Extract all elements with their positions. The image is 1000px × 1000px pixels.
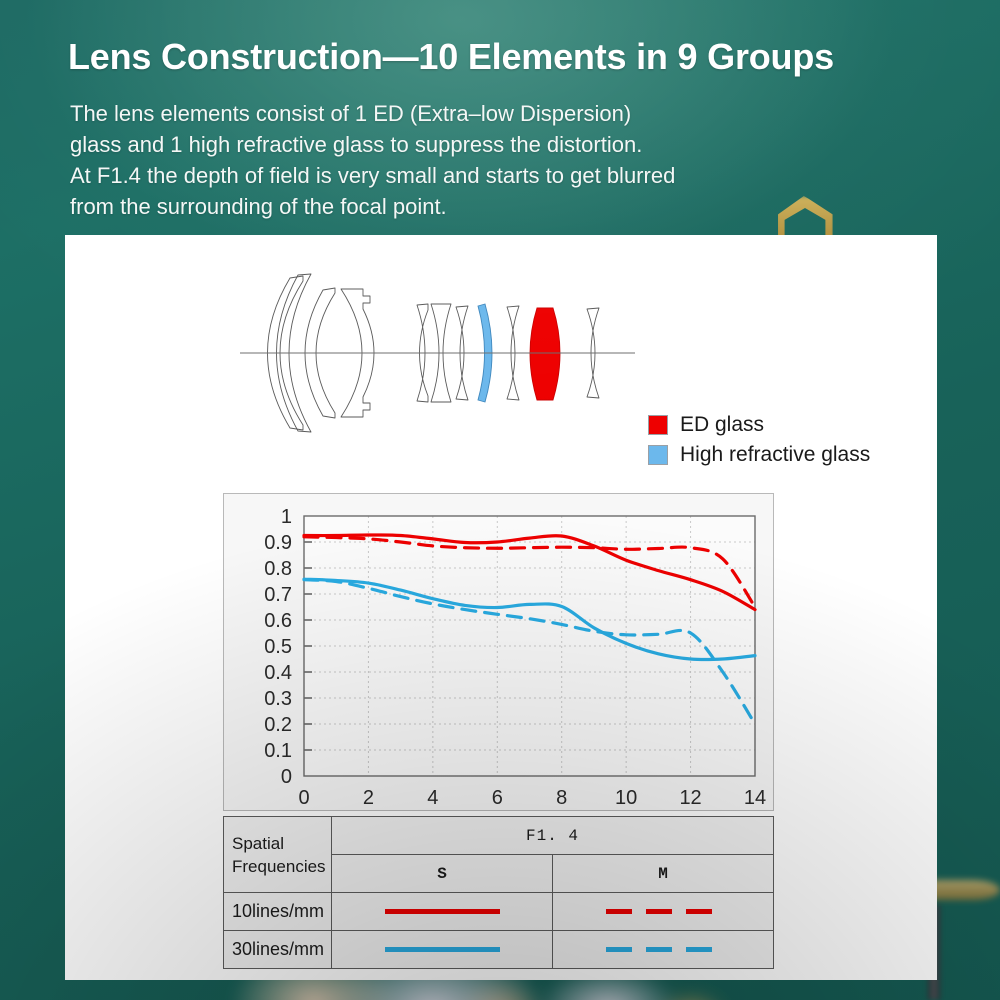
- y-axis-tick-label: 0.3: [264, 688, 292, 710]
- y-axis-tick-label: 0.7: [264, 584, 292, 606]
- y-axis-tick-label: 0.1: [264, 740, 292, 762]
- y-axis-tick-label: 0.4: [264, 662, 292, 684]
- x-axis-tick-label: 14: [744, 787, 766, 809]
- x-axis-tick-label: 4: [427, 787, 438, 809]
- y-axis-tick-label: 0.8: [264, 558, 292, 580]
- diagram-legend: ED glass High refractive glass: [648, 410, 870, 470]
- y-axis-tick-label: 1: [281, 506, 292, 528]
- y-axis-tick-label: 0.5: [264, 636, 292, 658]
- x-axis-tick-label: 0: [298, 787, 309, 809]
- x-axis-tick-label: 10: [615, 787, 637, 809]
- table-row-header-aperture: Spatial Frequencies F1. 4: [224, 817, 774, 855]
- y-axis-tick-label: 0.9: [264, 532, 292, 554]
- table-sample-30-s: [332, 931, 553, 969]
- legend-item-ed-glass: ED glass: [648, 410, 870, 440]
- description-text: The lens elements consist of 1 ED (Extra…: [70, 98, 675, 222]
- y-axis-tick-label: 0.6: [264, 610, 292, 632]
- table-header-sagittal: S: [332, 855, 553, 893]
- red-square-swatch: [648, 415, 668, 435]
- x-axis-tick-label: 2: [363, 787, 374, 809]
- description-line-2: glass and 1 high refractive glass to sup…: [70, 129, 675, 160]
- lens-construction-diagram: [235, 263, 665, 443]
- table-sample-10-s: [332, 893, 553, 931]
- content-card: ED glass High refractive glass 00.10.20.…: [65, 235, 937, 980]
- sample-dashed-red: [606, 909, 721, 914]
- x-axis-tick-label: 6: [492, 787, 503, 809]
- description-line-1: The lens elements consist of 1 ED (Extra…: [70, 98, 675, 129]
- legend-item-high-refractive-glass: High refractive glass: [648, 440, 870, 470]
- mtf-chart-plot: 00.10.20.30.40.50.60.70.80.9102468101214: [224, 494, 775, 812]
- table-sample-10-m: [553, 893, 774, 931]
- table-sample-30-m: [553, 931, 774, 969]
- sample-dashed-blue: [606, 947, 721, 952]
- table-cell-freq-30: 30lines/mm: [224, 931, 332, 969]
- sample-solid-blue: [385, 947, 500, 952]
- spatial-label-line2: Frequencies: [232, 855, 325, 878]
- spatial-label-line1: Spatial: [232, 832, 325, 855]
- table-row: 10lines/mm: [224, 893, 774, 931]
- page-title: Lens Construction—10 Elements in 9 Group…: [68, 36, 834, 78]
- x-axis-tick-label: 12: [679, 787, 701, 809]
- ed-glass-element: [530, 308, 560, 400]
- mtf-chart-block: 00.10.20.30.40.50.60.70.80.9102468101214…: [223, 493, 774, 943]
- description-line-4: from the surrounding of the focal point.: [70, 191, 675, 222]
- description-line-3: At F1.4 the depth of field is very small…: [70, 160, 675, 191]
- slide-root: Lens Construction—10 Elements in 9 Group…: [0, 0, 1000, 1000]
- table-header-meridional: M: [553, 855, 774, 893]
- table-header-spatial-frequencies: Spatial Frequencies: [224, 817, 332, 893]
- legend-label-ed-glass: ED glass: [680, 413, 764, 437]
- table-cell-freq-10: 10lines/mm: [224, 893, 332, 931]
- x-axis-tick-label: 8: [556, 787, 567, 809]
- table-header-aperture: F1. 4: [332, 817, 774, 855]
- table-row: 30lines/mm: [224, 931, 774, 969]
- y-axis-tick-label: 0.2: [264, 714, 292, 736]
- y-axis-tick-label: 0: [281, 766, 292, 788]
- mtf-chart-frame: 00.10.20.30.40.50.60.70.80.9102468101214: [223, 493, 774, 811]
- legend-label-high-refractive-glass: High refractive glass: [680, 443, 870, 467]
- blue-square-swatch: [648, 445, 668, 465]
- mtf-legend-table: Spatial Frequencies F1. 4 S M 10lines/mm: [223, 816, 774, 969]
- sample-solid-red: [385, 909, 500, 914]
